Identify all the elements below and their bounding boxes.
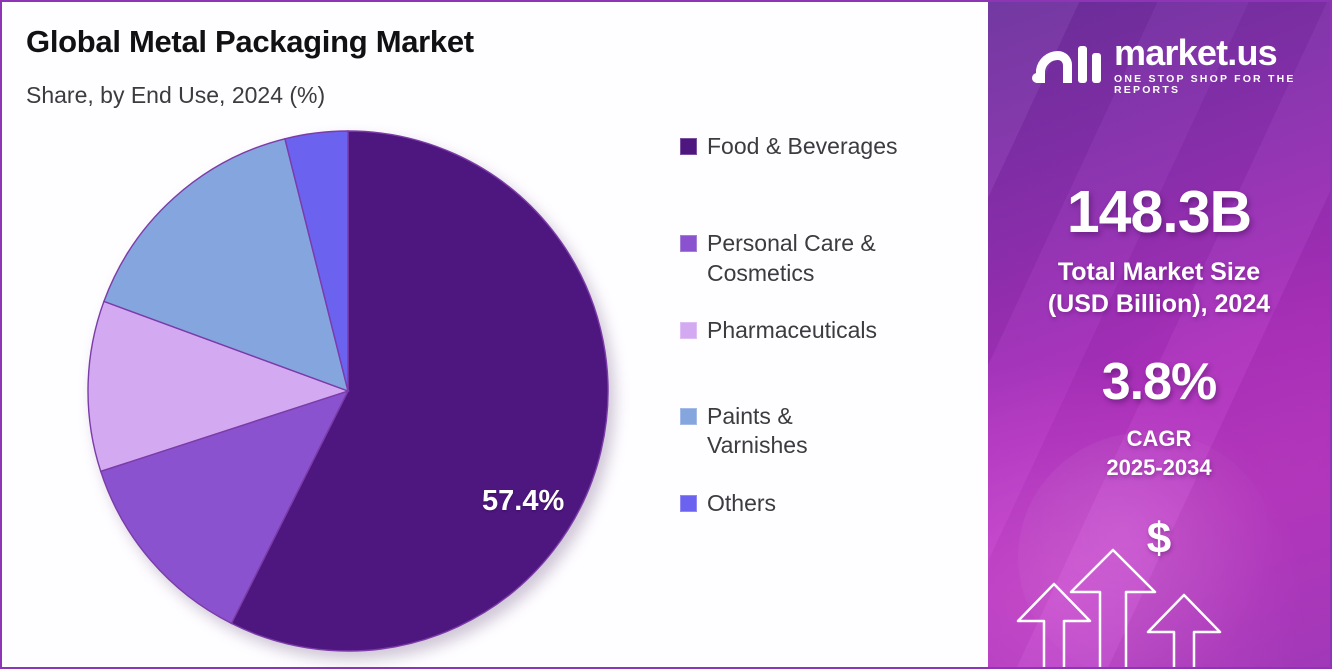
legend-item-others[interactable]: Others (680, 489, 980, 518)
market-size-label-line2: (USD Billion), 2024 (988, 288, 1330, 320)
infographic-root: Global Metal Packaging Market Share, by … (0, 0, 1332, 669)
pie-slice-label-food-beverages: 57.4% (482, 485, 564, 518)
growth-arrows-icon (988, 502, 1330, 667)
market-us-logo-icon (1030, 40, 1104, 91)
legend-label: Food & Beverages (707, 132, 898, 161)
chart-panel: Global Metal Packaging Market Share, by … (2, 2, 988, 667)
logo-tagline: ONE STOP SHOP FOR THE REPORTS (1114, 74, 1330, 95)
legend-swatch-icon (680, 495, 697, 512)
cagr-label: CAGR 2025-2034 (988, 425, 1330, 482)
pie-chart: 57.4% (87, 130, 609, 652)
legend-label: Personal Care & Cosmetics (707, 229, 932, 288)
legend-label: Pharmaceuticals (707, 316, 877, 345)
legend-label: Paints & Varnishes (707, 402, 867, 461)
page-title: Global Metal Packaging Market (26, 24, 474, 60)
market-size-value: 148.3B (988, 178, 1330, 246)
chart-legend: Food & Beverages Personal Care & Cosmeti… (680, 132, 980, 548)
cagr-label-line2: 2025-2034 (988, 454, 1330, 483)
market-size-label-line1: Total Market Size (988, 256, 1330, 288)
legend-item-pharmaceuticals[interactable]: Pharmaceuticals (680, 316, 980, 345)
logo-wordmark: market.us (1114, 35, 1330, 71)
legend-swatch-icon (680, 138, 697, 155)
brand-panel: market.us ONE STOP SHOP FOR THE REPORTS … (988, 2, 1330, 667)
legend-item-paints-varnishes[interactable]: Paints & Varnishes (680, 402, 980, 461)
legend-item-personal-care-cosmetics[interactable]: Personal Care & Cosmetics (680, 229, 980, 288)
market-us-logo[interactable]: market.us ONE STOP SHOP FOR THE REPORTS (1030, 35, 1330, 95)
legend-swatch-icon (680, 322, 697, 339)
cagr-label-line1: CAGR (988, 425, 1330, 454)
pie-svg (87, 130, 609, 652)
legend-label: Others (707, 489, 776, 518)
legend-swatch-icon (680, 408, 697, 425)
legend-item-food-beverages[interactable]: Food & Beverages (680, 132, 980, 161)
chart-subtitle: Share, by End Use, 2024 (%) (26, 82, 325, 109)
legend-swatch-icon (680, 235, 697, 252)
market-us-logo-text: market.us ONE STOP SHOP FOR THE REPORTS (1114, 35, 1330, 95)
cagr-value: 3.8% (988, 352, 1330, 412)
market-size-label: Total Market Size (USD Billion), 2024 (988, 256, 1330, 320)
